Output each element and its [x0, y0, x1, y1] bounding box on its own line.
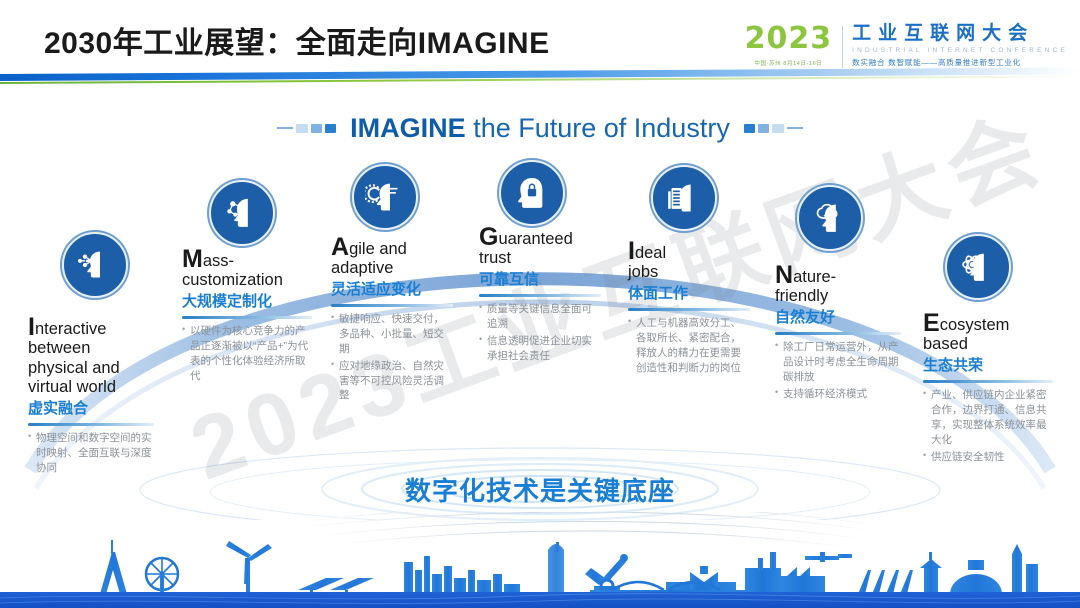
logo-year-block: 2023 中国·苏州 8月14日-16日	[745, 24, 843, 67]
column-divider	[628, 308, 750, 311]
logo-chinese-name: 工业互联网大会	[852, 24, 1068, 44]
column-chinese-title: 体面工作	[628, 285, 750, 303]
column-caption: Ideal jobs	[628, 240, 750, 283]
icon-circle-ideal-jobs[interactable]	[651, 165, 717, 231]
caption-line-1: trust	[479, 249, 511, 267]
column-chinese-title: 生态共荣	[923, 357, 1053, 375]
caption-line-1: between	[28, 339, 90, 357]
caption-line-3: virtual world	[28, 378, 116, 396]
headline-bold: IMAGINE	[350, 113, 466, 143]
icon-circle-guaranteed-trust[interactable]	[499, 160, 565, 226]
dash-ornament-right	[744, 124, 803, 133]
drop-cap: N	[775, 261, 793, 289]
column-ideal-jobs: Ideal jobs 体面工作 人工与机器高效分工、各取所长、紧密配合，释放人的…	[628, 240, 750, 378]
logo-date: 中国·苏州 8月14日-16日	[745, 59, 833, 67]
column-chinese-title: 大规模定制化	[182, 293, 312, 311]
column-divider	[775, 332, 901, 335]
caption-rest: ature-	[793, 268, 836, 286]
caption-line-1: friendly	[775, 287, 828, 305]
list-item: 人工与机器高效分工、各取所长、紧密配合，释放人的精力在更需要创造性和判断力的岗位	[628, 316, 750, 376]
column-nature-friendly: Nature- friendly 自然友好 除工厂日常运营外，从产品设计时考虑全…	[775, 264, 901, 404]
caption-line-1: adaptive	[331, 259, 393, 277]
icon-circle-interactive[interactable]	[62, 232, 128, 298]
headline: IMAGINE the Future of Industry	[350, 113, 730, 144]
caption-rest: cosystem	[940, 316, 1010, 334]
column-caption: Guaranteed trust	[479, 226, 601, 269]
head-atom-icon	[958, 247, 998, 287]
column-caption: Ecosystem based	[923, 312, 1053, 355]
column-bullets: 以硬件为核心竞争力的产品正逐渐被以“产品+”为代表的个性化体验经济所取代	[182, 324, 312, 384]
head-speed-icon	[365, 177, 405, 217]
column-chinese-title: 灵活适应变化	[331, 281, 453, 299]
column-mass-customization: Mass- customization 大规模定制化 以硬件为核心竞争力的产品正…	[182, 248, 312, 386]
caption-rest: ass-	[203, 252, 234, 270]
conference-logo: 2023 中国·苏州 8月14日-16日 工业互联网大会 INDUSTRIAL …	[745, 24, 1068, 68]
drop-cap: A	[331, 233, 349, 261]
page-title: 2030年工业展望：全面走向IMAGINE	[44, 18, 550, 62]
column-divider	[923, 380, 1053, 383]
drop-cap: G	[479, 223, 498, 251]
logo-english-name: INDUSTRIAL INTERNET CONFERENCE	[852, 47, 1068, 54]
logo-divider	[842, 26, 843, 68]
caption-rest: uaranteed	[498, 230, 572, 248]
list-item: 产业、供应链内企业紧密合作，边界打通、信息共享，实现整体系统效率最大化	[923, 388, 1053, 448]
column-bullets: 除工厂日常运营外，从产品设计时考虑全生命周期碳排放 支持循环经济模式	[775, 340, 901, 402]
column-caption: Agile and adaptive	[331, 236, 453, 279]
caption-line-1: customization	[182, 271, 283, 289]
icon-circle-nature-friendly[interactable]	[797, 185, 863, 251]
header-rule	[0, 74, 1080, 86]
list-item: 应对地缘政治、自然灾害等不可控风险灵活调整	[331, 359, 453, 404]
slide-root: 2030年工业展望：全面走向IMAGINE 2023 中国·苏州 8月14日-1…	[0, 0, 1080, 608]
column-agile-adaptive: Agile and adaptive 灵活适应变化 敏捷响应、快速交付，多品种、…	[331, 236, 453, 405]
list-item: 除工厂日常运营外，从产品设计时考虑全生命周期碳排放	[775, 340, 901, 385]
list-item: 信息透明促进企业切实承担社会责任	[479, 334, 601, 364]
column-chinese-title: 可靠互信	[479, 271, 601, 289]
caption-line-1: based	[923, 335, 968, 353]
column-divider	[182, 316, 312, 319]
headline-rest: the Future of Industry	[466, 113, 730, 143]
head-gears-icon	[222, 193, 262, 233]
column-guaranteed-trust: Guaranteed trust 可靠互信 质量等关键信息全面可追溯 信息透明促…	[479, 226, 601, 366]
caption-line-1: jobs	[628, 263, 658, 281]
drop-cap: I	[28, 313, 35, 341]
column-bullets: 质量等关键信息全面可追溯 信息透明促进企业切实承担社会责任	[479, 302, 601, 364]
logo-subtitle: 数实融合 数智赋能——高质量推进新型工业化	[852, 57, 1068, 68]
column-bullets: 产业、供应链内企业紧密合作，边界打通、信息共享，实现整体系统效率最大化 供应链安…	[923, 388, 1053, 465]
column-caption: Nature- friendly	[775, 264, 901, 307]
caption-line-2: physical and	[28, 359, 120, 377]
drop-cap: M	[182, 245, 203, 273]
column-bullets: 敏捷响应、快速交付，多品种、小批量、短交期 应对地缘政治、自然灾害等不可控风险灵…	[331, 312, 453, 403]
icon-circle-agile-adaptive[interactable]	[352, 164, 418, 230]
caption-rest: nteractive	[35, 320, 107, 338]
caption-rest: deal	[635, 244, 666, 262]
head-network-icon	[75, 245, 115, 285]
list-item: 供应链安全韧性	[923, 450, 1053, 465]
column-divider	[331, 304, 453, 307]
icon-circle-ecosystem-based[interactable]	[945, 234, 1011, 300]
drop-cap: I	[628, 237, 635, 265]
column-divider	[479, 294, 601, 297]
logo-year: 2023	[745, 24, 833, 54]
dash-ornament-left	[277, 124, 336, 133]
column-chinese-title: 自然友好	[775, 309, 901, 327]
column-bullets: 物理空间和数字空间的实时映射、全面互联与深度协同	[28, 431, 154, 476]
icon-circle-mass-customization[interactable]	[209, 180, 275, 246]
column-chinese-title: 虚实融合	[28, 400, 154, 418]
logo-name-block: 工业互联网大会 INDUSTRIAL INTERNET CONFERENCE 数…	[852, 24, 1068, 68]
column-divider	[28, 423, 154, 426]
bottom-skyline	[0, 512, 1080, 608]
head-lock-icon	[512, 173, 552, 213]
list-item: 质量等关键信息全面可追溯	[479, 302, 601, 332]
head-tree-icon	[810, 198, 850, 238]
column-ecosystem-based: Ecosystem based 生态共荣 产业、供应链内企业紧密合作，边界打通、…	[923, 312, 1053, 466]
head-building-icon	[664, 178, 704, 218]
list-item: 敏捷响应、快速交付，多品种、小批量、短交期	[331, 312, 453, 357]
column-caption: Interactive between physical and virtual…	[28, 316, 154, 398]
list-item: 支持循环经济模式	[775, 387, 901, 402]
list-item: 以硬件为核心竞争力的产品正逐渐被以“产品+”为代表的个性化体验经济所取代	[182, 324, 312, 384]
drop-cap: E	[923, 309, 940, 337]
column-caption: Mass- customization	[182, 248, 312, 291]
column-bullets: 人工与机器高效分工、各取所长、紧密配合，释放人的精力在更需要创造性和判断力的岗位	[628, 316, 750, 376]
column-interactive: Interactive between physical and virtual…	[28, 316, 154, 478]
list-item: 物理空间和数字空间的实时映射、全面互联与深度协同	[28, 431, 154, 476]
caption-rest: gile and	[349, 240, 407, 258]
